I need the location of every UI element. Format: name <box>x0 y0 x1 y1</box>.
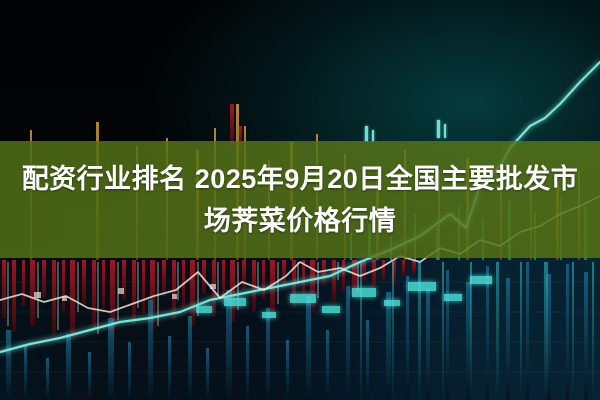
title-line-1: 配资行业排名 2025年9月20日全国主要批发市 <box>22 158 579 200</box>
title-line-2: 场荠菜价格行情 <box>204 200 397 242</box>
cyan-marker-pips <box>365 120 446 142</box>
banner-image: 配资行业排名 2025年9月20日全国主要批发市 场荠菜价格行情 <box>0 0 600 400</box>
title-overlay-banner: 配资行业排名 2025年9月20日全国主要批发市 场荠菜价格行情 <box>0 141 600 258</box>
